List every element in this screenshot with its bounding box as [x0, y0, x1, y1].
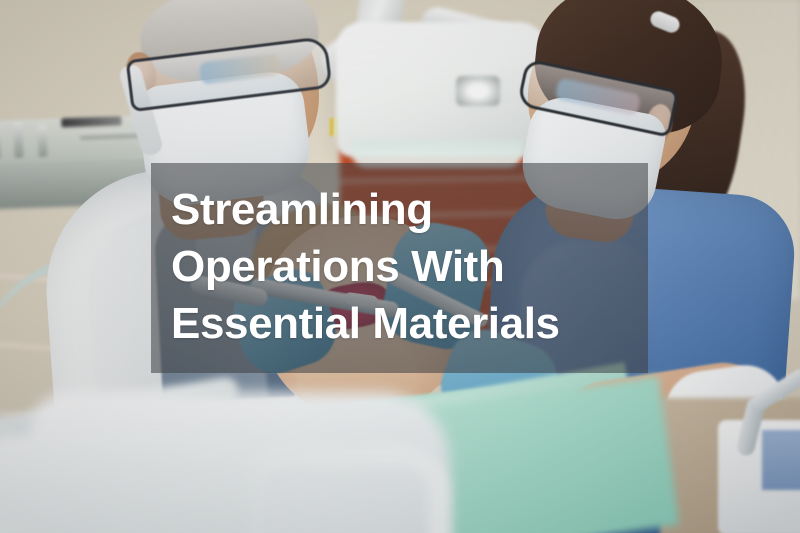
foreground-equipment-left — [0, 430, 260, 533]
page-title: Streamlining Operations With Essential M… — [171, 181, 648, 352]
tray-tool — [13, 122, 23, 158]
tray-tool — [61, 116, 121, 127]
hero-banner: Streamlining Operations With Essential M… — [0, 0, 800, 533]
foreground-hook — [236, 444, 450, 533]
overhead-lamp — [336, 22, 548, 157]
unit-control-panel — [762, 430, 800, 490]
headline-overlay-panel: Streamlining Operations With Essential M… — [151, 163, 648, 373]
lamp-adjust-knob — [456, 76, 500, 106]
tray-tool — [0, 125, 1, 159]
tray-tool — [37, 125, 47, 157]
